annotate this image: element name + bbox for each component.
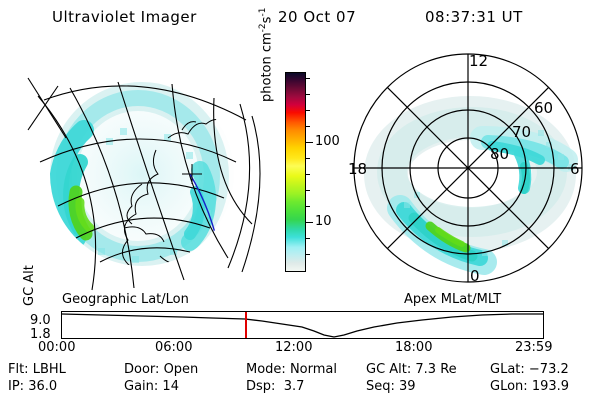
orbit-y-axis-label: GC Alt bbox=[22, 265, 37, 306]
status-panel: Flt: LBHL Door: Open Mode: Normal GC Alt… bbox=[0, 362, 600, 400]
status-seq-label: Seq: bbox=[366, 379, 395, 394]
apex-polar-plot[interactable]: 12 6 0 18 60 70 80 bbox=[342, 42, 594, 294]
status-glat-value: −73.2 bbox=[529, 362, 569, 377]
orbit-altitude-curve bbox=[62, 314, 543, 337]
mlt-label-18: 18 bbox=[348, 160, 367, 178]
instrument-title: Ultraviolet Imager bbox=[52, 8, 197, 26]
status-glon-value: 193.9 bbox=[532, 379, 569, 394]
orbit-xtick-1: 06:00 bbox=[155, 340, 192, 355]
mlt-label-12: 12 bbox=[469, 52, 488, 70]
colorbar-unit-exp1: -2 bbox=[258, 23, 268, 32]
orbit-altitude-plot[interactable] bbox=[61, 311, 544, 339]
colorbar-unit-exp2: -1 bbox=[258, 8, 268, 17]
status-ip: IP: 36.0 bbox=[8, 379, 57, 394]
status-flt-label: Flt: bbox=[8, 362, 29, 377]
status-mode-label: Mode: bbox=[246, 362, 286, 377]
orbit-ytick-max: 9.0 bbox=[30, 313, 51, 328]
orbit-xtick-3: 18:00 bbox=[395, 340, 432, 355]
status-gcalt: GC Alt: 7.3 Re bbox=[366, 362, 457, 377]
status-glon: GLon: 193.9 bbox=[490, 379, 569, 394]
polar-grid-spokes bbox=[354, 54, 582, 282]
status-glon-label: GLon: bbox=[490, 379, 528, 394]
colorbar-unit-sec: s bbox=[259, 17, 274, 24]
status-gcalt-label: GC Alt: bbox=[366, 362, 411, 377]
mlt-label-0: 0 bbox=[470, 267, 480, 285]
status-flt-value: LBHL bbox=[33, 362, 66, 377]
status-gain-value: 14 bbox=[162, 379, 179, 394]
status-dsp-label: Dsp: bbox=[246, 379, 275, 394]
status-seq: Seq: 39 bbox=[366, 379, 416, 394]
status-glat: GLat: −73.2 bbox=[490, 362, 569, 377]
colorbar-tick-100: 100 bbox=[315, 135, 340, 148]
status-glat-label: GLat: bbox=[490, 362, 525, 377]
status-ip-label: IP: bbox=[8, 379, 24, 394]
colorbar-unit-main: photon cm bbox=[259, 32, 274, 102]
observation-date: 20 Oct 07 bbox=[278, 8, 356, 26]
globe-caption: Geographic Lat/Lon bbox=[62, 292, 189, 307]
status-door-label: Door: bbox=[124, 362, 159, 377]
mlt-label-6: 6 bbox=[570, 160, 580, 178]
status-seq-value: 39 bbox=[399, 379, 416, 394]
colorbar-tick-10: 10 bbox=[315, 215, 332, 228]
status-ip-value: 36.0 bbox=[28, 379, 57, 394]
mlat-label-60: 60 bbox=[534, 99, 553, 117]
status-gain-label: Gain: bbox=[124, 379, 158, 394]
mlat-label-80: 80 bbox=[490, 145, 509, 163]
status-gain: Gain: 14 bbox=[124, 379, 179, 394]
status-dsp: Dsp: 3.7 bbox=[246, 379, 304, 394]
geographic-globe-plot[interactable] bbox=[14, 42, 264, 294]
status-mode-value: Normal bbox=[290, 362, 337, 377]
status-door: Door: Open bbox=[124, 362, 198, 377]
status-mode: Mode: Normal bbox=[246, 362, 337, 377]
status-dsp-value: 3.7 bbox=[284, 379, 305, 394]
status-gcalt-value: 7.3 Re bbox=[415, 362, 456, 377]
colorbar-axis-label: photon cm-2s-1 bbox=[258, 0, 274, 102]
orbit-xtick-0: 00:00 bbox=[38, 340, 75, 355]
status-flt: Flt: LBHL bbox=[8, 362, 66, 377]
observation-time: 08:37:31 UT bbox=[425, 8, 523, 26]
polar-caption: Apex MLat/MLT bbox=[404, 292, 501, 307]
orbit-xtick-4: 23:59 bbox=[515, 340, 552, 355]
intensity-colorbar[interactable]: 100 10 photon cm-2s-1 bbox=[262, 60, 340, 290]
orbit-xtick-2: 12:00 bbox=[275, 340, 312, 355]
colorbar-gradient bbox=[285, 72, 306, 272]
aurora-emission-globe bbox=[50, 82, 234, 266]
mlat-label-70: 70 bbox=[512, 123, 531, 141]
header-bar: Ultraviolet Imager 20 Oct 07 08:37:31 UT bbox=[0, 6, 600, 30]
status-door-value: Open bbox=[164, 362, 199, 377]
orbit-time-cursor[interactable] bbox=[245, 312, 247, 338]
